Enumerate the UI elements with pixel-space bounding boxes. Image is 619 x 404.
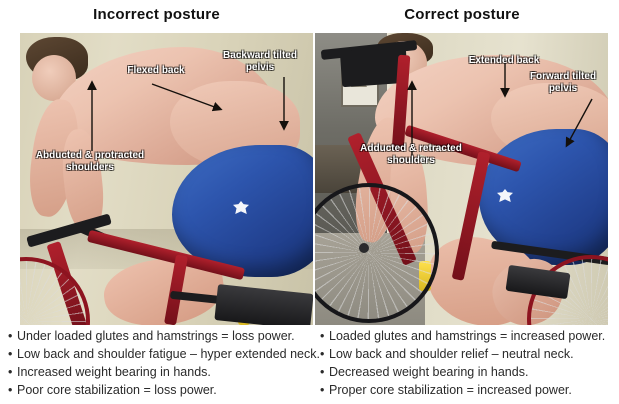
- list-item: • Increased weight bearing in hands.: [8, 363, 311, 381]
- correct-posture-bullet-list: • Loaded glutes and hamstrings = increas…: [320, 327, 615, 399]
- list-item-label: Proper core stabilization = increased po…: [329, 381, 572, 399]
- titles-row: Incorrect posture Correct posture: [0, 0, 619, 32]
- list-item-label: Poor core stabilization = loss power.: [17, 381, 217, 399]
- list-item: • Poor core stabilization = loss power.: [8, 381, 311, 399]
- list-item: • Loaded glutes and hamstrings = increas…: [320, 327, 615, 345]
- list-item-label: Low back and shoulder relief – neutral n…: [329, 345, 574, 363]
- list-item-label: Under loaded glutes and hamstrings = los…: [17, 327, 295, 345]
- list-item: • Low back and shoulder relief – neutral…: [320, 345, 615, 363]
- summary-lists-row: • Under loaded glutes and hamstrings = l…: [0, 327, 619, 404]
- bullet-marker-icon: •: [320, 363, 329, 381]
- bullet-marker-icon: •: [320, 381, 329, 399]
- list-item-label: Decreased weight bearing in hands.: [329, 363, 528, 381]
- bullet-marker-icon: •: [8, 345, 17, 363]
- list-item: • Under loaded glutes and hamstrings = l…: [8, 327, 311, 345]
- list-item: • Proper core stabilization = increased …: [320, 381, 615, 399]
- front-hub: [359, 243, 369, 253]
- incorrect-posture-photo: Flexed back Backward tilted pelvis Abduc…: [20, 33, 313, 325]
- correct-posture-photo: Extended back Forward tilted pelvis Addu…: [315, 33, 608, 325]
- bullet-marker-icon: •: [8, 327, 17, 345]
- bullet-marker-icon: •: [320, 345, 329, 363]
- left-panel-title: Incorrect posture: [0, 6, 313, 23]
- photo-comparison-row: Flexed back Backward tilted pelvis Abduc…: [0, 33, 619, 325]
- right-panel-title: Correct posture: [315, 6, 609, 23]
- incorrect-posture-bullet-list: • Under loaded glutes and hamstrings = l…: [8, 327, 311, 399]
- list-item: • Low back and shoulder fatigue – hyper …: [8, 345, 311, 363]
- bullet-marker-icon: •: [8, 363, 17, 381]
- bullet-marker-icon: •: [8, 381, 17, 399]
- list-item-label: Increased weight bearing in hands.: [17, 363, 211, 381]
- list-item: • Decreased weight bearing in hands.: [320, 363, 615, 381]
- bullet-marker-icon: •: [320, 327, 329, 345]
- list-item-label: Low back and shoulder fatigue – hyper ex…: [17, 345, 320, 363]
- list-item-label: Loaded glutes and hamstrings = increased…: [329, 327, 605, 345]
